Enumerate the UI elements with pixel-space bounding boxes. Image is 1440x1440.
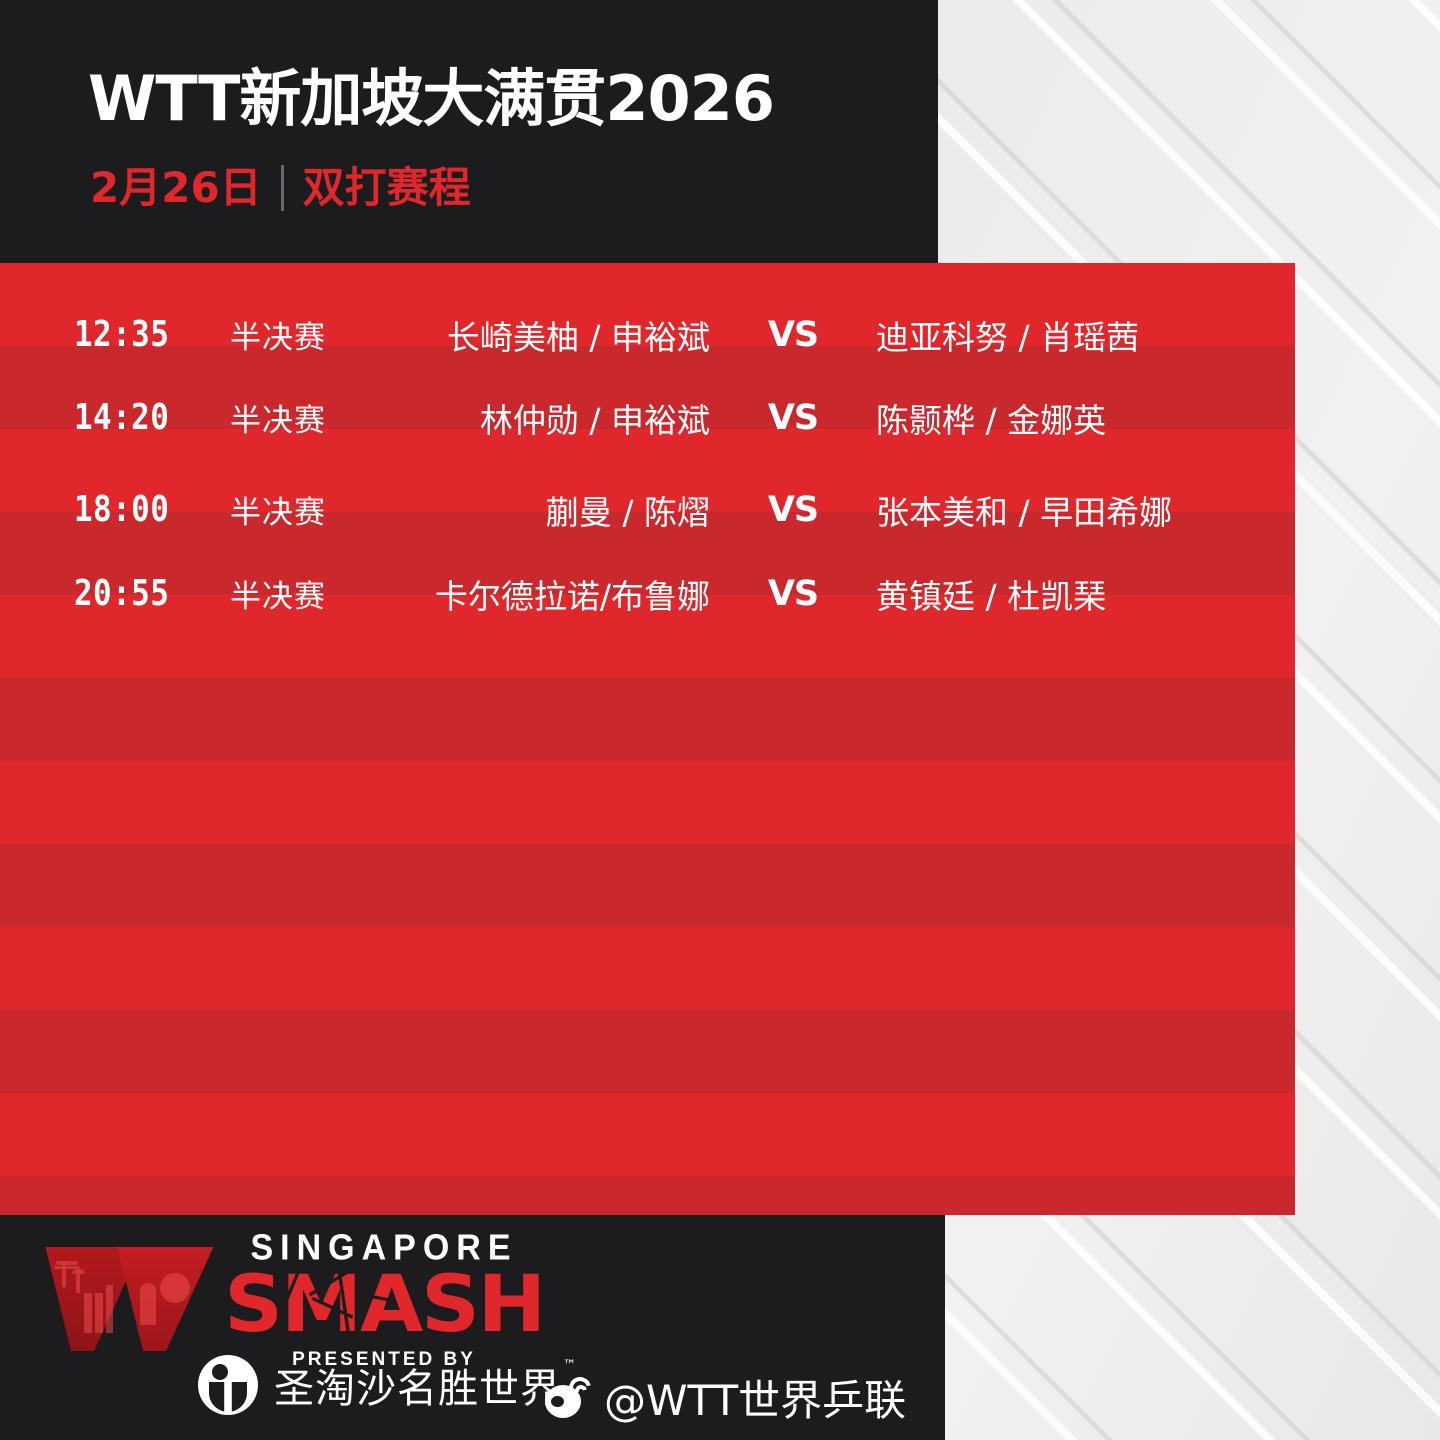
match-time: 12:35 [0,314,198,355]
stripe-row [0,927,1295,1010]
subtitle-date: 2月26日 [90,167,262,209]
match-team-left: 蒯曼 / 陈熠 [380,486,710,534]
header-block: WTT新加坡大满贯2026 2月26日 双打赛程 [0,0,938,263]
skyline-detail [54,1259,204,1341]
schedule-panel: 12:35 半决赛 长崎美柚 / 申裕斌 VS 迪亚科努 / 肖瑶茜 14:20… [0,263,1295,1215]
match-team-right: 陈颢桦 / 金娜英 [876,394,1276,442]
match-vs-label: VS [710,398,876,438]
match-vs-label: VS [710,574,876,614]
match-team-left: 长崎美柚 / 申裕斌 [380,311,710,359]
singapore-smash-logo: SINGAPORE SMASH PRESENTED BY [40,1229,534,1371]
table-row[interactable]: 14:20 半决赛 林仲勋 / 申裕斌 VS 陈颢桦 / 金娜英 [0,376,1295,459]
subtitle-row: 2月26日 双打赛程 [90,165,471,211]
wtt-w-mark-icon [40,1247,220,1352]
match-stage: 半决赛 [230,312,380,357]
stripe-row [0,1010,1295,1093]
match-time: 14:20 [0,397,198,438]
stripe-row [0,1176,1295,1215]
match-team-left: 卡尔德拉诺/布鲁娜 [380,570,710,618]
match-stage: 半决赛 [230,571,380,616]
match-time: 20:55 [0,573,198,614]
stripe-row [0,844,1295,927]
sponsor-row: 圣淘沙名胜世界™ [198,1355,561,1415]
logo-smash-text: SMASH [216,1259,552,1351]
stripe-row [0,678,1295,761]
sentosa-globe-icon [198,1355,258,1415]
match-stage: 半决赛 [230,395,380,440]
subtitle-divider [281,165,284,211]
match-vs-label: VS [710,315,876,355]
match-team-left: 林仲勋 / 申裕斌 [380,394,710,442]
match-team-right: 张本美和 / 早田希娜 [876,486,1276,534]
sponsor-name: 圣淘沙名胜世界™ [274,1356,561,1414]
match-stage: 半决赛 [230,487,380,532]
match-time: 18:00 [0,489,198,530]
weibo-handle: @WTT世界乒联 [604,1367,906,1428]
page-title: WTT新加坡大满贯2026 [88,68,774,130]
stripe-row [0,761,1295,844]
match-team-right: 迪亚科努 / 肖瑶茜 [876,311,1276,359]
table-row[interactable]: 12:35 半决赛 长崎美柚 / 申裕斌 VS 迪亚科努 / 肖瑶茜 [0,293,1295,376]
table-row[interactable]: 20:55 半决赛 卡尔德拉诺/布鲁娜 VS 黄镇廷 / 杜凯琹 [0,552,1295,635]
table-row[interactable]: 18:00 半决赛 蒯曼 / 陈熠 VS 张本美和 / 早田希娜 [0,468,1295,551]
weibo-icon [545,1377,593,1419]
subtitle-event-type: 双打赛程 [303,167,471,209]
match-vs-label: VS [710,490,876,530]
weibo-account-row[interactable]: @WTT世界乒联 [545,1367,906,1428]
match-team-right: 黄镇廷 / 杜凯琹 [876,570,1276,618]
stripe-row [0,1093,1295,1176]
